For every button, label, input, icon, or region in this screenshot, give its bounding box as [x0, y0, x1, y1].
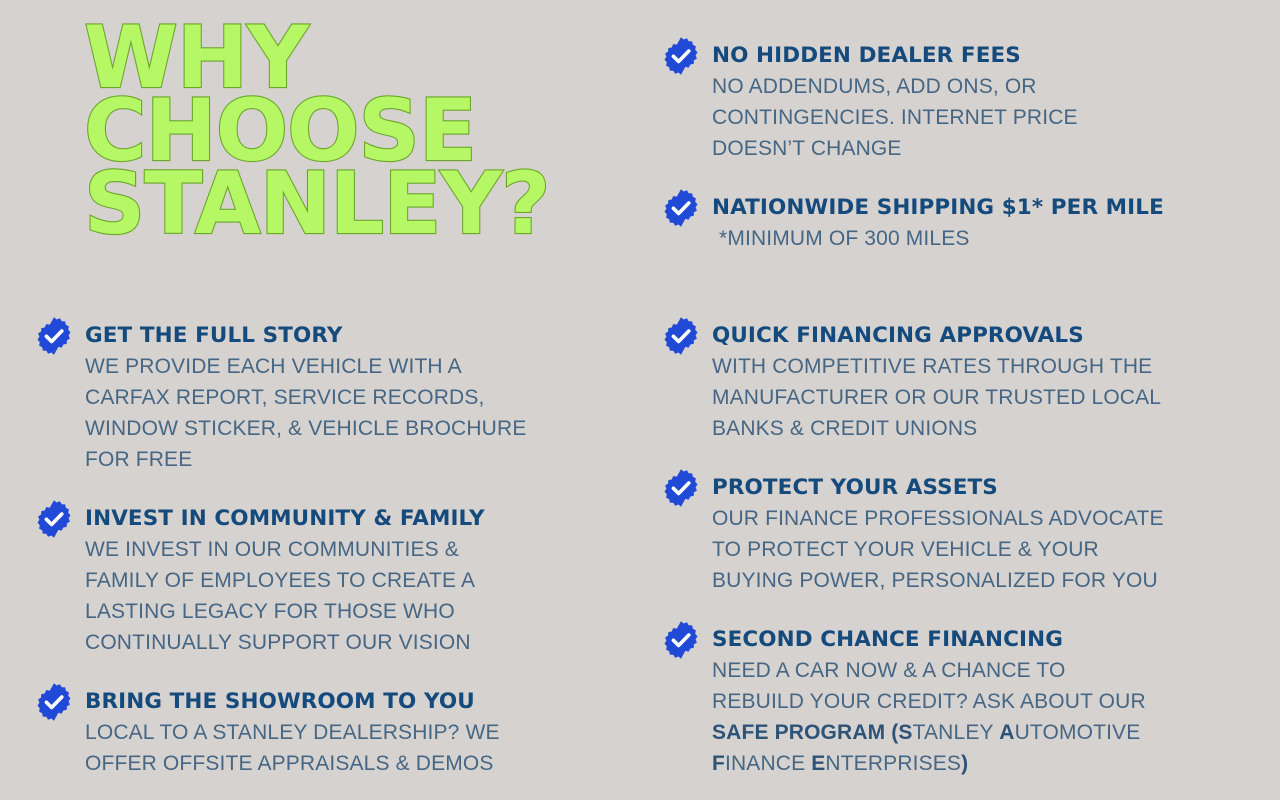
feature-body: GET THE FULL STORY WE PROVIDE EACH VEHIC… — [85, 320, 604, 475]
desc-line: TO PROTECT YOUR VEHICLE & YOUR — [712, 534, 1251, 565]
feature-quick-financing: QUICK FINANCING APPROVALS WITH COMPETITI… — [661, 320, 1251, 444]
desc-segment: ) — [961, 752, 968, 775]
desc-segment: F — [712, 752, 725, 775]
desc-line: WINDOW STICKER, & VEHICLE BROCHURE — [85, 413, 604, 444]
check-badge-icon — [661, 188, 701, 228]
feature-title: BRING THE SHOWROOM TO YOU — [85, 688, 604, 716]
feature-protect-assets: PROTECT YOUR ASSETS OUR FINANCE PROFESSI… — [661, 472, 1251, 596]
desc-segment: A — [999, 721, 1014, 744]
feature-title: INVEST IN COMMUNITY & FAMILY — [85, 505, 604, 533]
desc-line: CONTINGENCIES. INTERNET PRICE — [712, 102, 1251, 133]
feature-get-full-story: GET THE FULL STORY WE PROVIDE EACH VEHIC… — [34, 320, 604, 475]
desc-line: REBUILD YOUR CREDIT? ASK ABOUT OUR — [712, 686, 1251, 717]
desc-line: BANKS & CREDIT UNIONS — [712, 413, 1251, 444]
feature-body: NO HIDDEN DEALER FEES NO ADDENDUMS, ADD … — [712, 40, 1251, 164]
check-badge-icon — [661, 468, 701, 508]
feature-description: WE PROVIDE EACH VEHICLE WITH A CARFAX RE… — [85, 351, 604, 475]
feature-description: WITH COMPETITIVE RATES THROUGH THE MANUF… — [712, 351, 1251, 444]
feature-second-chance: SECOND CHANCE FINANCING NEED A CAR NOW &… — [661, 624, 1251, 779]
feature-bring-showroom: BRING THE SHOWROOM TO YOU LOCAL TO A STA… — [34, 686, 604, 779]
feature-title: NO HIDDEN DEALER FEES — [712, 42, 1251, 70]
desc-line: DOESN’T CHANGE — [712, 133, 1251, 164]
feature-body: SECOND CHANCE FINANCING NEED A CAR NOW &… — [712, 624, 1251, 779]
check-badge-icon — [661, 620, 701, 660]
feature-description: *MINIMUM OF 300 MILES — [712, 223, 1241, 254]
desc-line: BUYING POWER, PERSONALIZED FOR YOU — [712, 565, 1251, 596]
desc-line: CARFAX REPORT, SERVICE RECORDS, — [85, 382, 604, 413]
feature-no-hidden-fees: NO HIDDEN DEALER FEES NO ADDENDUMS, ADD … — [661, 40, 1251, 164]
desc-line: MANUFACTURER OR OUR TRUSTED LOCAL — [712, 382, 1251, 413]
desc-line: FOR FREE — [85, 444, 604, 475]
desc-line: LASTING LEGACY FOR THOSE WHO — [85, 596, 604, 627]
feature-description: WE INVEST IN OUR COMMUNITIES & FAMILY OF… — [85, 534, 604, 658]
check-badge-icon — [661, 316, 701, 356]
feature-body: BRING THE SHOWROOM TO YOU LOCAL TO A STA… — [85, 686, 604, 779]
poster-canvas: WHY CHOOSE STANLEY? GET THE FULL STORY W… — [0, 0, 1280, 800]
feature-title: QUICK FINANCING APPROVALS — [712, 322, 1251, 350]
headline-line-3: STANLEY? — [84, 168, 599, 241]
feature-title: GET THE FULL STORY — [85, 322, 604, 350]
feature-description: LOCAL TO A STANLEY DEALERSHIP? WE OFFER … — [85, 717, 604, 779]
feature-title: NATIONWIDE SHIPPING $1* PER MILE — [712, 194, 1241, 222]
feature-description: NO ADDENDUMS, ADD ONS, OR CONTINGENCIES.… — [712, 71, 1251, 164]
desc-segment: UTOMOTIVE — [1015, 721, 1141, 744]
feature-title: PROTECT YOUR ASSETS — [712, 474, 1251, 502]
page-title: WHY CHOOSE STANLEY? — [84, 22, 604, 241]
desc-segment: SAFE PROGRAM (S — [712, 721, 913, 744]
desc-line: LOCAL TO A STANLEY DEALERSHIP? WE — [85, 717, 604, 748]
desc-line: NO ADDENDUMS, ADD ONS, OR — [712, 71, 1251, 102]
desc-line: FAMILY OF EMPLOYEES TO CREATE A — [85, 565, 604, 596]
feature-body: PROTECT YOUR ASSETS OUR FINANCE PROFESSI… — [712, 472, 1251, 596]
desc-segment: E — [811, 752, 825, 775]
desc-line: OUR FINANCE PROFESSIONALS ADVOCATE — [712, 503, 1251, 534]
desc-line: WE PROVIDE EACH VEHICLE WITH A — [85, 351, 604, 382]
desc-segment: NTERPRISES — [825, 752, 961, 775]
desc-segment: INANCE — [725, 752, 811, 775]
desc-line: *MINIMUM OF 300 MILES — [712, 223, 1241, 254]
feature-body: NATIONWIDE SHIPPING $1* PER MILE *MINIMU… — [712, 192, 1241, 254]
feature-invest-community: INVEST IN COMMUNITY & FAMILY WE INVEST I… — [34, 503, 604, 658]
desc-segment: TANLEY — [913, 721, 1000, 744]
check-badge-icon — [661, 36, 701, 76]
feature-title: SECOND CHANCE FINANCING — [712, 626, 1251, 654]
check-badge-icon — [34, 499, 74, 539]
desc-line: NEED A CAR NOW & A CHANCE TO — [712, 655, 1251, 686]
feature-nationwide-shipping: NATIONWIDE SHIPPING $1* PER MILE *MINIMU… — [661, 192, 1241, 254]
desc-line: CONTINUALLY SUPPORT OUR VISION — [85, 627, 604, 658]
desc-line-rich: SAFE PROGRAM (STANLEY AUTOMOTIVE FINANCE… — [712, 717, 1251, 779]
feature-body: INVEST IN COMMUNITY & FAMILY WE INVEST I… — [85, 503, 604, 658]
feature-description: OUR FINANCE PROFESSIONALS ADVOCATE TO PR… — [712, 503, 1251, 596]
feature-description: NEED A CAR NOW & A CHANCE TO REBUILD YOU… — [712, 655, 1251, 779]
desc-line: WITH COMPETITIVE RATES THROUGH THE — [712, 351, 1251, 382]
feature-body: QUICK FINANCING APPROVALS WITH COMPETITI… — [712, 320, 1251, 444]
check-badge-icon — [34, 316, 74, 356]
check-badge-icon — [34, 682, 74, 722]
desc-line: OFFER OFFSITE APPRAISALS & DEMOS — [85, 748, 604, 779]
desc-line-text: *MINIMUM OF 300 MILES — [712, 223, 970, 254]
desc-line: WE INVEST IN OUR COMMUNITIES & — [85, 534, 604, 565]
